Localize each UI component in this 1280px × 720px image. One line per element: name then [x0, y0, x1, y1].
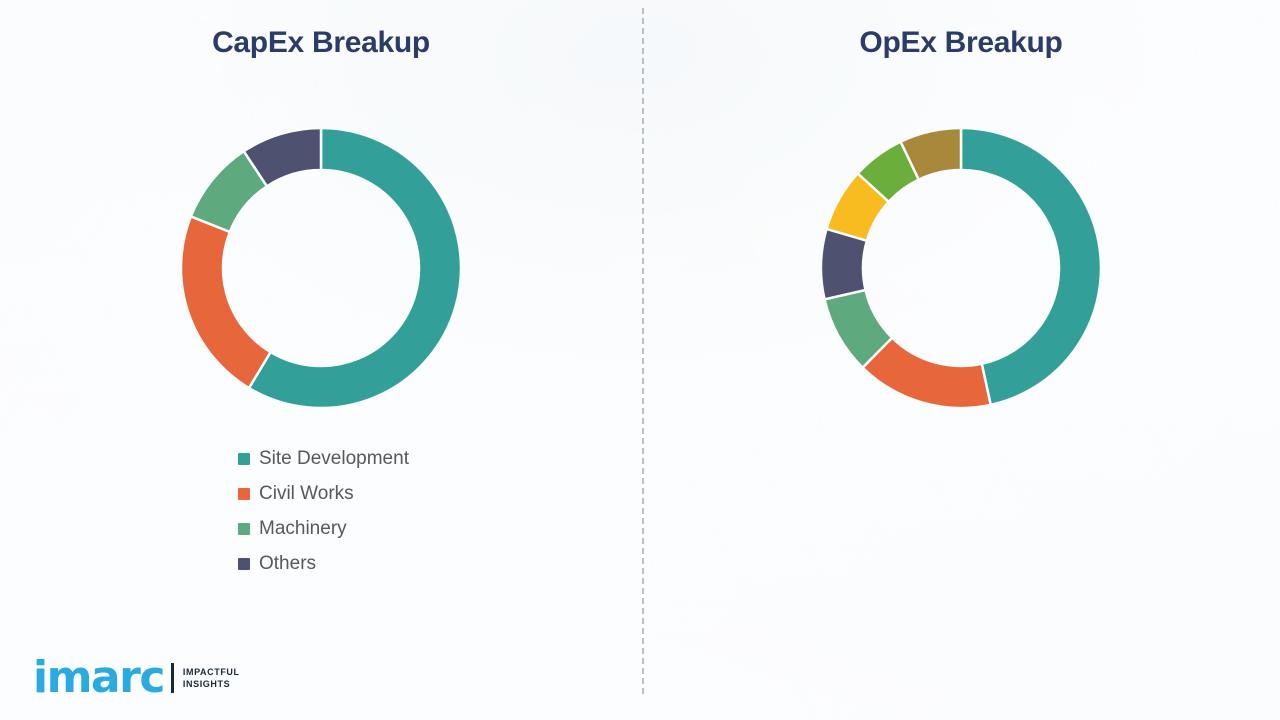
capex-panel: CapEx Breakup Site DevelopmentCivil Work… — [0, 0, 642, 720]
legend-swatch-icon — [238, 488, 250, 500]
opex-donut-svg — [791, 98, 1131, 438]
legend-item[interactable]: Others — [238, 554, 409, 574]
logo-tagline-line1: IMPACTFUL — [183, 666, 240, 678]
legend-item-label: Civil Works — [259, 484, 354, 504]
capex-legend: Site DevelopmentCivil WorksMachineryOthe… — [238, 449, 409, 589]
opex-panel: OpEx Breakup Raw MaterialsSalaries and W… — [642, 0, 1280, 720]
legend-item[interactable]: Site Development — [238, 449, 409, 469]
opex-donut-chart — [791, 98, 1131, 438]
slide-canvas: CapEx Breakup Site DevelopmentCivil Work… — [0, 0, 1280, 720]
legend-item[interactable]: Civil Works — [238, 484, 409, 504]
capex-donut-svg — [151, 98, 491, 438]
legend-item-label: Site Development — [259, 449, 409, 469]
panel-divider — [642, 8, 644, 694]
logo-divider-rule — [171, 663, 174, 693]
legend-item-label: Machinery — [259, 519, 347, 539]
capex-donut-chart — [151, 98, 491, 438]
legend-swatch-icon — [238, 523, 250, 535]
logo-tagline-line2: INSIGHTS — [183, 678, 240, 690]
logo-wordmark: imarc — [33, 658, 164, 698]
legend-swatch-icon — [238, 453, 250, 465]
opex-title: OpEx Breakup — [642, 26, 1280, 60]
legend-item-label: Others — [259, 554, 316, 574]
logo-tagline: IMPACTFUL INSIGHTS — [183, 666, 240, 690]
legend-swatch-icon — [238, 558, 250, 570]
capex-title: CapEx Breakup — [0, 26, 642, 60]
legend-item[interactable]: Machinery — [238, 519, 409, 539]
donut-slice[interactable] — [181, 216, 271, 388]
imarc-logo[interactable]: imarc IMPACTFUL INSIGHTS — [33, 658, 240, 698]
